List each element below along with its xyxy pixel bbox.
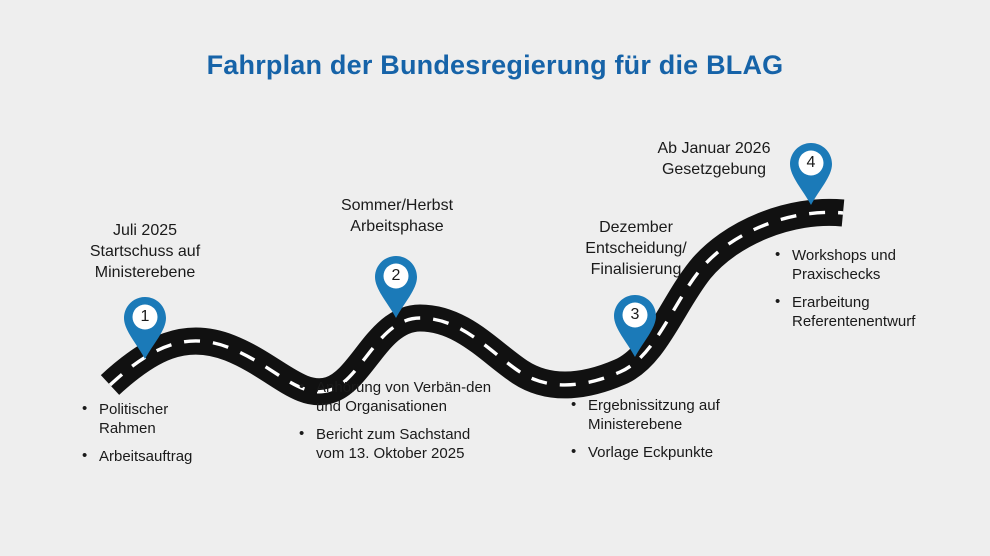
milestone-bullets-2: Anhörung von Verbän-den und Organisation…: [299, 378, 529, 463]
milestone-pin-2[interactable]: 2: [374, 255, 418, 319]
milestone-label-4: Ab Januar 2026 Gesetzgebung: [624, 138, 804, 180]
milestone-bullets-3: Ergebnissitzung auf Ministerebene Vorlag…: [571, 396, 791, 462]
list-item: Vorlage Eckpunkte: [571, 443, 791, 462]
list-item: Workshops und Praxischecks: [775, 246, 990, 284]
milestone-pin-number: 1: [123, 300, 167, 333]
milestone-bullets-4: Workshops und Praxischecks Erarbeitung R…: [775, 246, 990, 331]
milestone-pin-3[interactable]: 3: [613, 294, 657, 358]
list-item: Arbeitsauftrag: [82, 447, 252, 466]
list-item: Ergebnissitzung auf Ministerebene: [571, 396, 791, 434]
milestone-bullets-1: Politischer Rahmen Arbeitsauftrag: [82, 400, 252, 466]
list-item: Politischer Rahmen: [82, 400, 252, 438]
infographic-canvas: Fahrplan der Bundesregierung für die BLA…: [0, 0, 990, 556]
milestone-label-3: Dezember Entscheidung/ Finalisierung: [546, 217, 726, 280]
milestone-pin-number: 2: [374, 259, 418, 292]
list-item: Erarbeitung Referentenentwurf: [775, 293, 990, 331]
milestone-pin-number: 3: [613, 298, 657, 331]
list-item: Bericht zum Sachstand vom 13. Oktober 20…: [299, 425, 529, 463]
list-item: Anhörung von Verbän-den und Organisation…: [299, 378, 529, 416]
milestone-label-2: Sommer/Herbst Arbeitsphase: [307, 195, 487, 237]
milestone-label-1: Juli 2025 Startschuss auf Ministerebene: [55, 220, 235, 283]
milestone-pin-1[interactable]: 1: [123, 296, 167, 360]
